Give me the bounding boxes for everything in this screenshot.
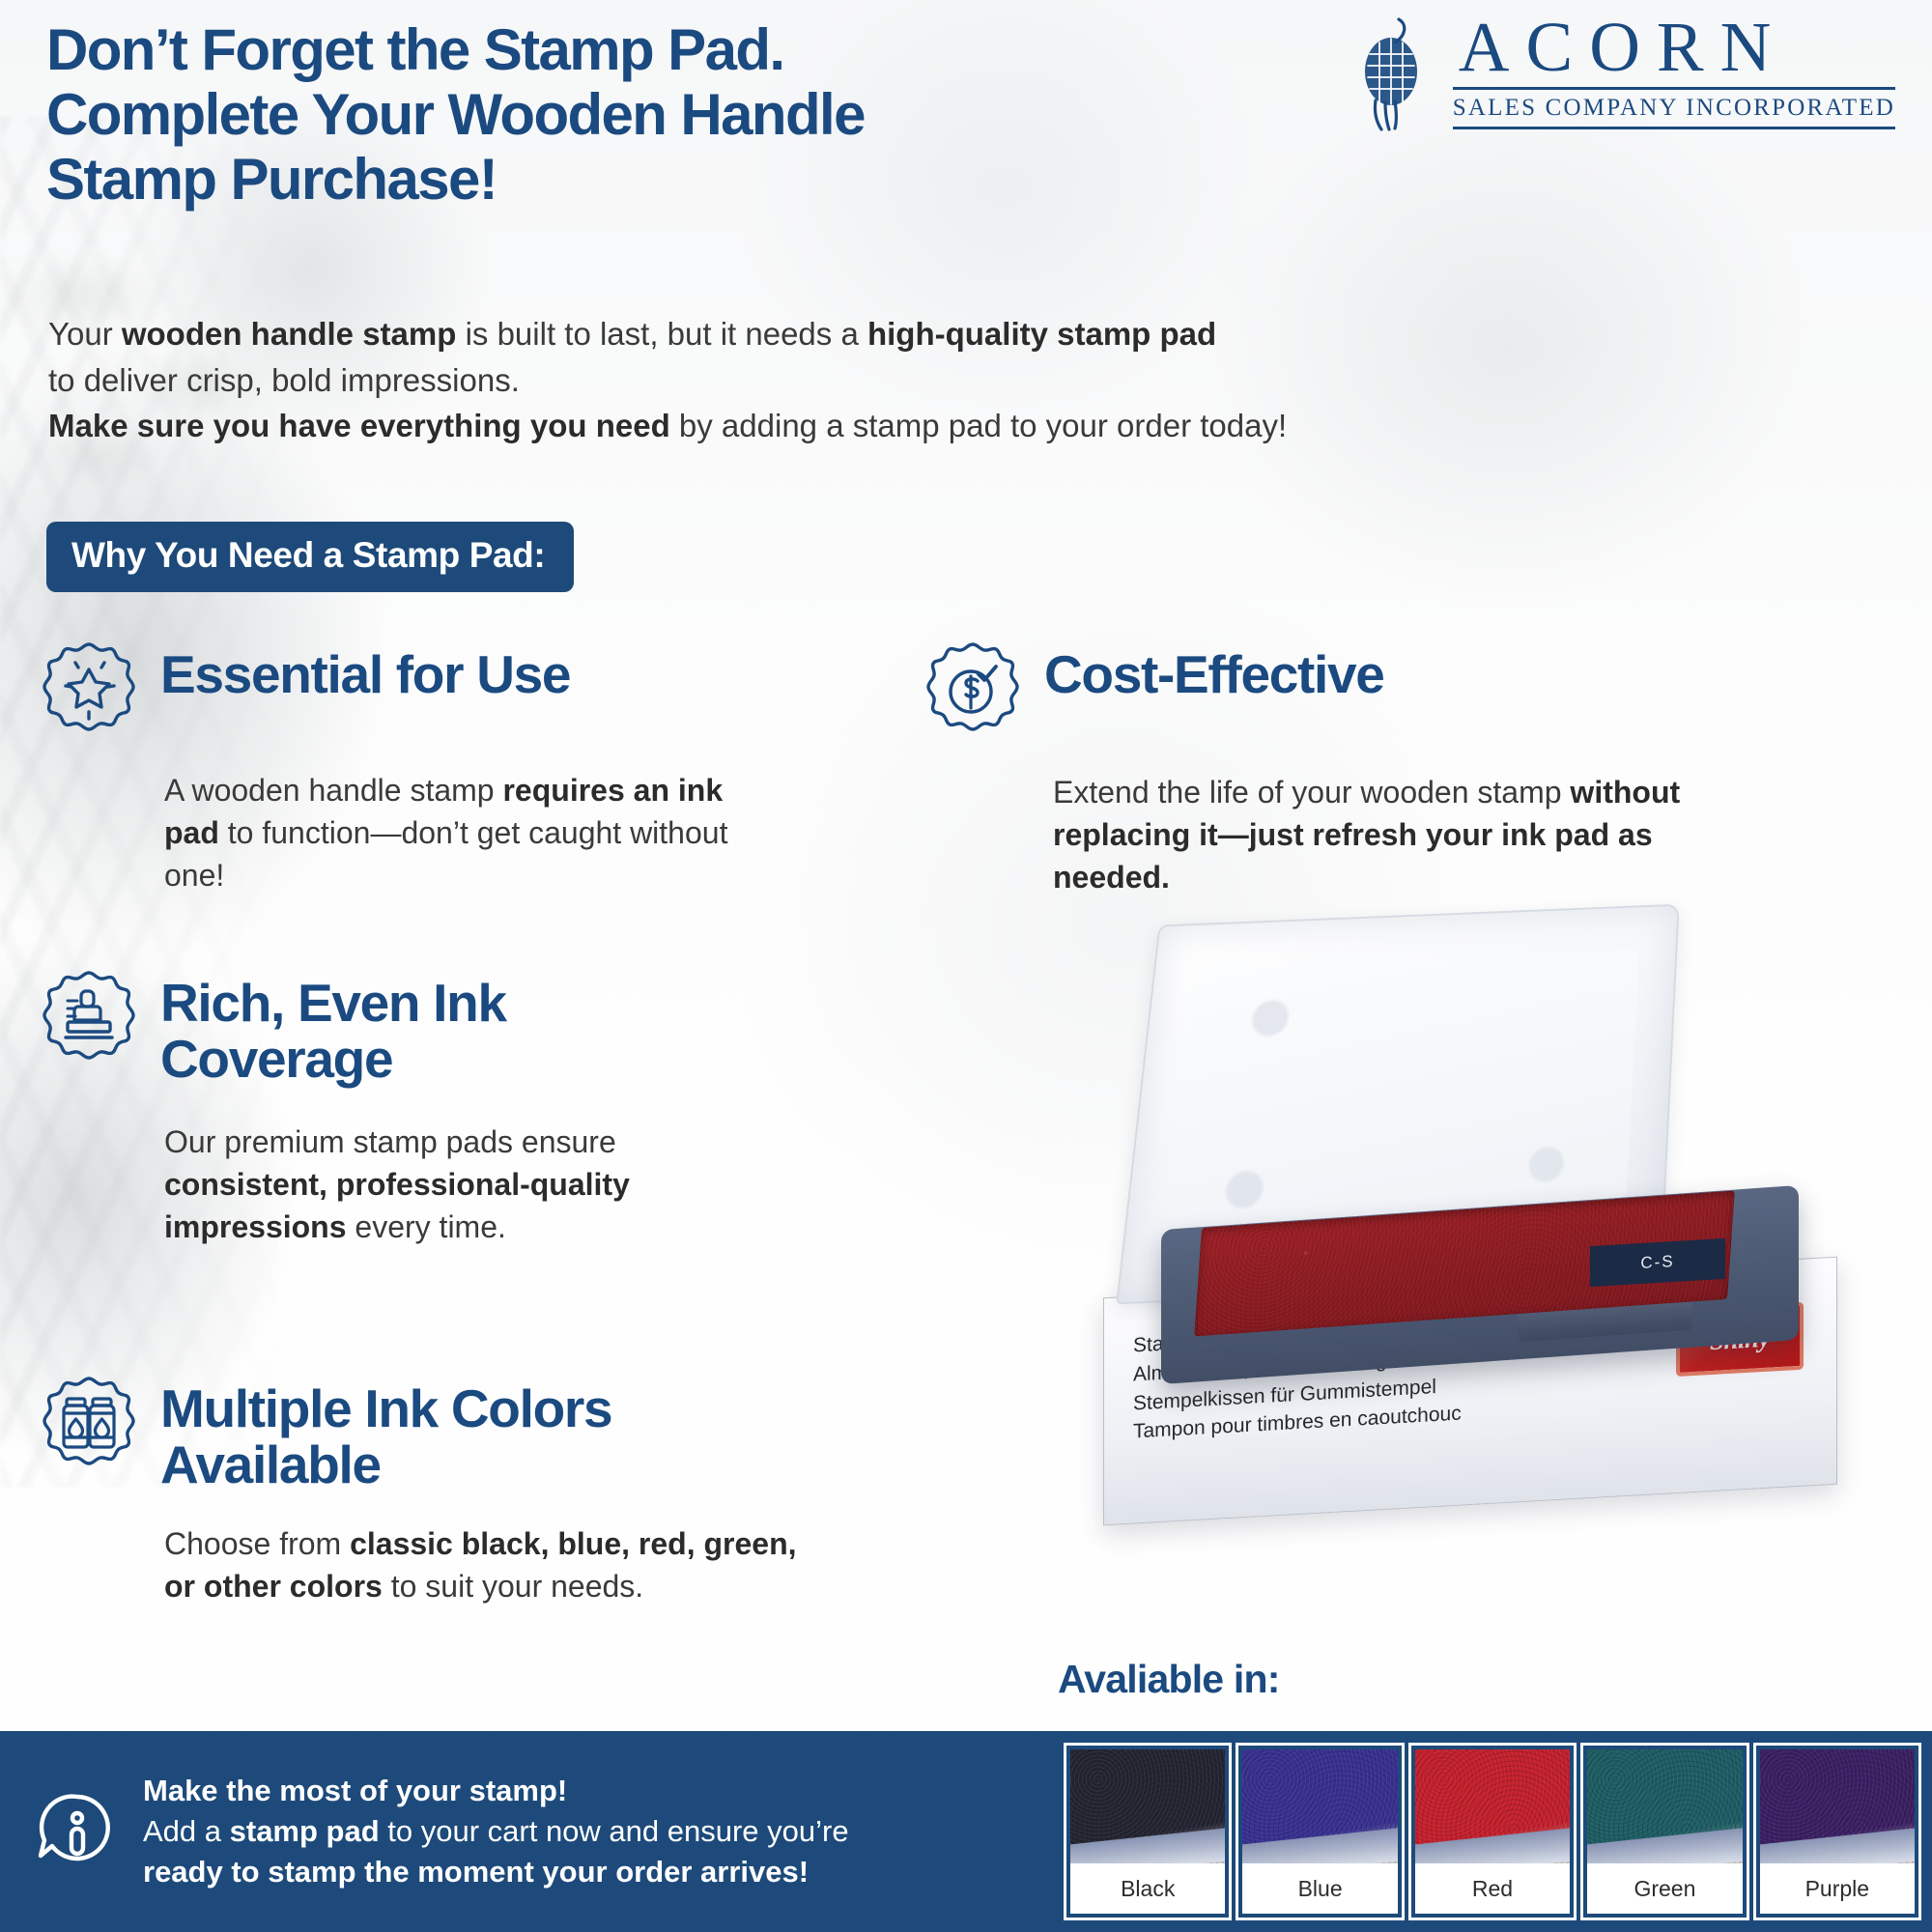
feature-title: Rich, Even Ink Coverage: [160, 966, 701, 1088]
intro-text: by adding a stamp pad to your order toda…: [670, 408, 1287, 443]
section-banner: Why You Need a Stamp Pad:: [46, 522, 574, 592]
feature-title: Multiple Ink Colors Available: [160, 1372, 759, 1493]
swatch-color-black: [1070, 1749, 1225, 1863]
available-in-title: Avaliable in:: [1058, 1657, 1280, 1702]
acorn-icon: [1347, 12, 1439, 131]
swatch-label: Blue: [1242, 1863, 1397, 1914]
feature-body: Our premium stamp pads ensure consistent…: [164, 1121, 724, 1248]
feature-body: Choose from classic black, blue, red, gr…: [164, 1522, 802, 1607]
swatch-color-red: [1415, 1749, 1570, 1863]
feature-title: Essential for Use: [160, 638, 570, 703]
swatch-red[interactable]: Red: [1411, 1746, 1574, 1918]
swatch-label: Purple: [1760, 1863, 1915, 1914]
product-sticker: C-S: [1590, 1238, 1725, 1287]
ink-bottles-badge-icon: [39, 1374, 139, 1474]
feature-text: to suit your needs.: [383, 1569, 643, 1604]
intro-emphasis: high-quality stamp pad: [867, 316, 1216, 352]
feature-text: Choose from: [164, 1526, 350, 1561]
feature-title: Cost-Effective: [1044, 638, 1384, 703]
logo-wordmark: ACORN SALES COMPANY INCORPORATED: [1453, 14, 1895, 128]
color-swatch-strip: Black Blue Red Green Purple: [1053, 1731, 1932, 1932]
swatch-purple[interactable]: Purple: [1756, 1746, 1918, 1918]
logo-subtitle: SALES COMPANY INCORPORATED: [1453, 95, 1895, 121]
intro-line-3: Make sure you have everything you need b…: [48, 403, 1401, 449]
stamp-badge-icon: [39, 968, 139, 1068]
product-photo: Stamp pad for rubber stamps Almohadilla …: [1053, 918, 1922, 1536]
feature-essential-for-use: Essential for Use A wooden handle stamp …: [39, 638, 908, 896]
cta-copy: Make the most of your stamp! Add a stamp…: [143, 1771, 849, 1892]
infographic-page: Don’t Forget the Stamp Pad. Complete You…: [0, 0, 1932, 1932]
feature-body: Extend the life of your wooden stamp wit…: [1053, 771, 1690, 898]
swatch-color-blue: [1242, 1749, 1397, 1863]
swatch-color-purple: [1760, 1749, 1915, 1863]
intro-emphasis: wooden handle stamp: [122, 316, 457, 352]
feature-header: Multiple Ink Colors Available: [39, 1372, 908, 1493]
swatch-label: Black: [1070, 1863, 1225, 1914]
swatch-label: Red: [1415, 1863, 1570, 1914]
intro-emphasis: Make sure you have everything you need: [48, 408, 670, 443]
intro-line-1: Your wooden handle stamp is built to las…: [48, 311, 1401, 357]
headline-line-3: Stamp Purchase!: [46, 147, 1012, 212]
headline-line-1: Don’t Forget the Stamp Pad.: [46, 17, 1012, 82]
feature-header: Rich, Even Ink Coverage: [39, 966, 908, 1088]
cta-text: to your cart now and ensure you’re: [380, 1814, 849, 1848]
cta-line-3: ready to stamp the moment your order arr…: [143, 1852, 849, 1892]
swatch-green[interactable]: Green: [1583, 1746, 1746, 1918]
page-headline: Don’t Forget the Stamp Pad. Complete You…: [46, 17, 1012, 213]
feature-cost-effective: Cost-Effective Extend the life of your w…: [923, 638, 1908, 898]
logo-rule-block: SALES COMPANY INCORPORATED: [1453, 87, 1895, 129]
feature-header: Essential for Use: [39, 638, 908, 740]
feature-header: Cost-Effective: [923, 638, 1908, 740]
feature-body: A wooden handle stamp requires an ink pa…: [164, 769, 763, 896]
info-speech-bubble-icon: [33, 1789, 118, 1874]
swatch-label: Green: [1587, 1863, 1742, 1914]
company-logo[interactable]: ACORN SALES COMPANY INCORPORATED: [1347, 12, 1895, 131]
dollar-check-badge-icon: [923, 639, 1023, 740]
intro-text: Your: [48, 316, 122, 352]
swatch-black[interactable]: Black: [1066, 1746, 1229, 1918]
feature-rich-even-ink-coverage: Rich, Even Ink Coverage Our premium stam…: [39, 966, 908, 1248]
feature-text: A wooden handle stamp: [164, 773, 502, 808]
feature-text: to function—don’t get caught without one…: [164, 815, 727, 893]
cta-text: Add a: [143, 1814, 230, 1848]
swatch-blue[interactable]: Blue: [1238, 1746, 1401, 1918]
cta-emphasis: stamp pad: [230, 1814, 380, 1848]
feature-multiple-ink-colors: Multiple Ink Colors Available Choose fro…: [39, 1372, 908, 1607]
cta-banner: Make the most of your stamp! Add a stamp…: [0, 1731, 1053, 1932]
logo-word: ACORN: [1453, 14, 1895, 80]
intro-paragraph: Your wooden handle stamp is built to las…: [48, 311, 1401, 449]
headline-line-2: Complete Your Wooden Handle: [46, 82, 1012, 147]
intro-text: is built to last, but it needs a: [456, 316, 867, 352]
cta-line-2: Add a stamp pad to your cart now and ens…: [143, 1811, 849, 1852]
star-badge-icon: [39, 639, 139, 740]
feature-text: Our premium stamp pads ensure: [164, 1124, 616, 1159]
feature-text: every time.: [347, 1209, 506, 1244]
swatch-color-green: [1587, 1749, 1742, 1863]
cta-line-1: Make the most of your stamp!: [143, 1771, 849, 1811]
intro-line-2: to deliver crisp, bold impressions.: [48, 357, 1401, 404]
feature-text: Extend the life of your wooden stamp: [1053, 775, 1570, 810]
